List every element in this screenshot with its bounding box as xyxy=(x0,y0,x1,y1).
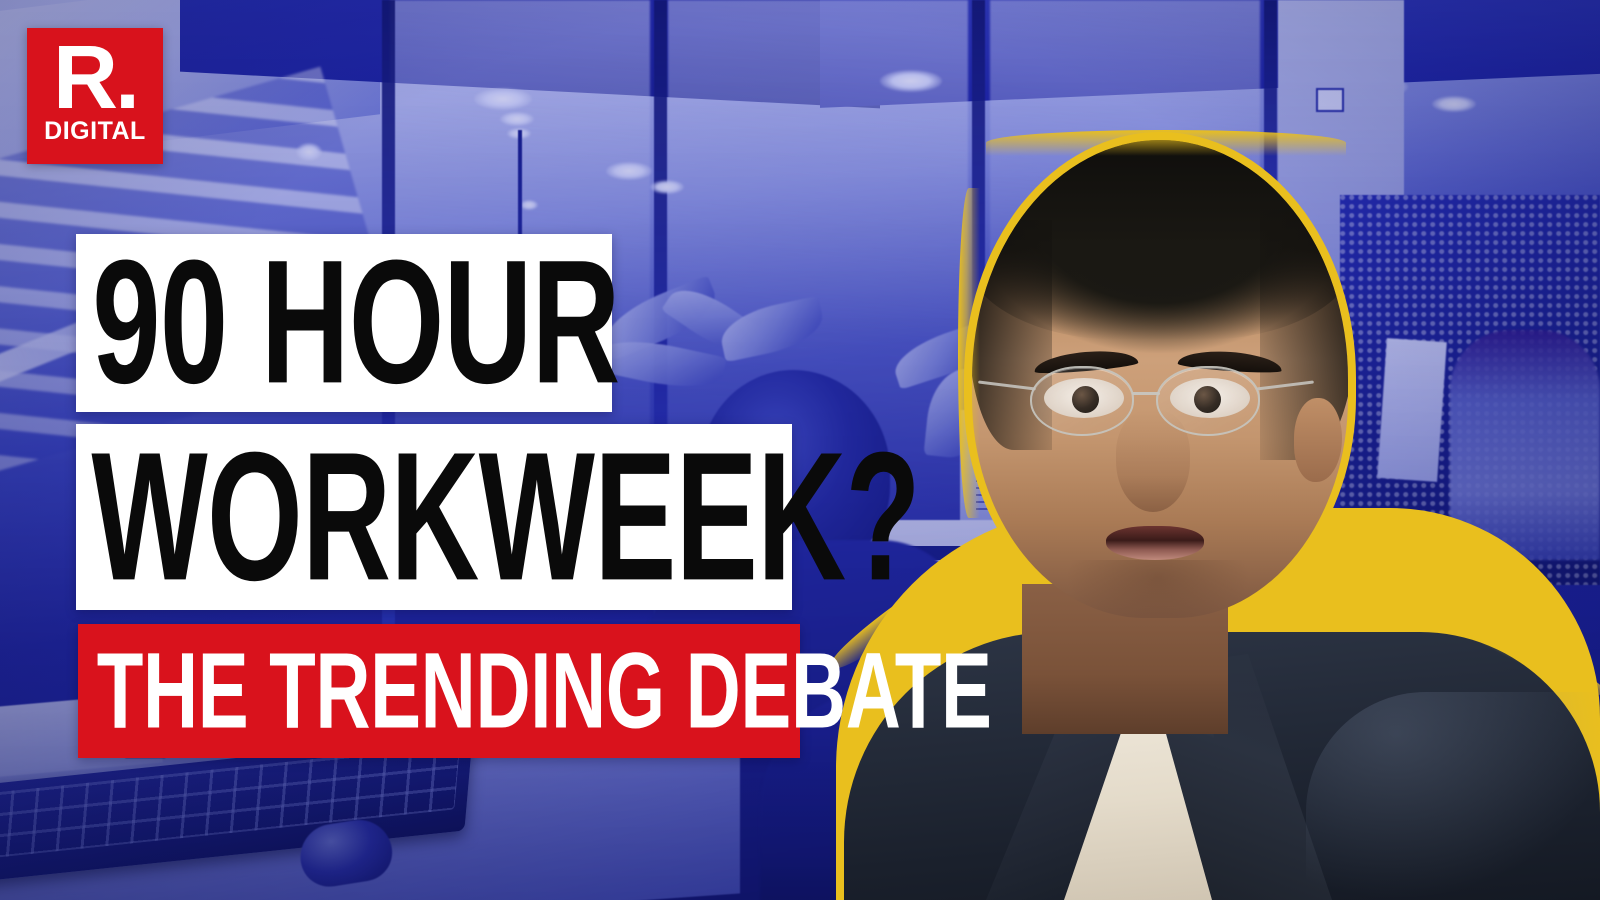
banner-text: THE TRENDING DEBATE xyxy=(78,629,992,752)
chin-shadow xyxy=(1068,560,1248,618)
eyeglass-lens-left xyxy=(1030,366,1134,436)
gold-rim-head-left xyxy=(958,188,980,518)
eyeglass-lens-right xyxy=(1156,366,1260,436)
subject-portrait xyxy=(836,132,1600,900)
logo-mark: R. xyxy=(53,36,137,121)
mouth xyxy=(1106,526,1204,560)
gold-rim-head-top xyxy=(986,130,1346,156)
headline-line-2-text: WORKWEEK? xyxy=(76,412,920,622)
headline-line-1-box: 90 HOUR xyxy=(76,234,612,412)
eyeglass-bridge xyxy=(1132,392,1160,395)
republic-digital-logo[interactable]: R. DIGITAL xyxy=(27,28,163,164)
head xyxy=(972,140,1348,618)
ear xyxy=(1294,398,1342,482)
shoulder-highlight xyxy=(1306,692,1600,900)
news-thumbnail: R. DIGITAL 90 HOUR WORKWEEK? THE TRENDIN… xyxy=(0,0,1600,900)
trending-debate-banner: THE TRENDING DEBATE xyxy=(78,624,800,758)
logo-label: DIGITAL xyxy=(44,117,146,146)
subject-fill xyxy=(836,132,1600,900)
headline-line-2-box: WORKWEEK? xyxy=(76,424,792,610)
headline-line-1-text: 90 HOUR xyxy=(76,222,620,423)
